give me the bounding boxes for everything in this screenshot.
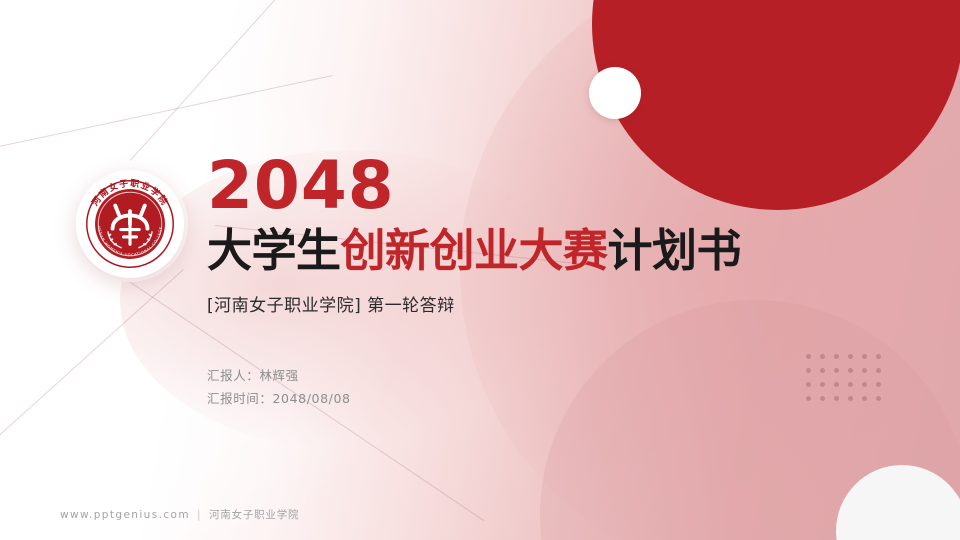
year-heading: 2048 (207, 155, 847, 218)
title-block: 2048 大学生创新创业大赛计划书 [河南女子职业学院] 第一轮答辩 汇报人：林… (207, 155, 847, 410)
decor-white-dot (589, 67, 641, 119)
footer-site: www.pptgenius.com (60, 509, 190, 521)
presentation-slide: 河南女子职业学院 HENAN WOMEN'S VOCATIONAL COLLEG… (0, 0, 960, 540)
footer-separator: | (197, 509, 202, 521)
title-tail: 计划书 (608, 224, 742, 277)
footer: www.pptgenius.com | 河南女子职业学院 (60, 507, 299, 522)
presenter-line: 汇报人：林辉强 (207, 364, 847, 387)
title-lead: 大学生 (207, 224, 341, 277)
footer-org: 河南女子职业学院 (209, 507, 299, 522)
page-title: 大学生创新创业大赛计划书 (207, 226, 847, 276)
college-emblem-icon: 河南女子职业学院 HENAN WOMEN'S VOCATIONAL COLLEG… (84, 178, 176, 270)
title-highlight: 创新创业大赛 (341, 224, 608, 277)
subtitle: [河南女子职业学院] 第一轮答辩 (207, 291, 847, 316)
presentation-meta: 汇报人：林辉强 汇报时间：2048/08/08 (207, 364, 847, 410)
date-line: 汇报时间：2048/08/08 (207, 387, 847, 410)
college-logo: 河南女子职业学院 HENAN WOMEN'S VOCATIONAL COLLEG… (76, 170, 184, 278)
